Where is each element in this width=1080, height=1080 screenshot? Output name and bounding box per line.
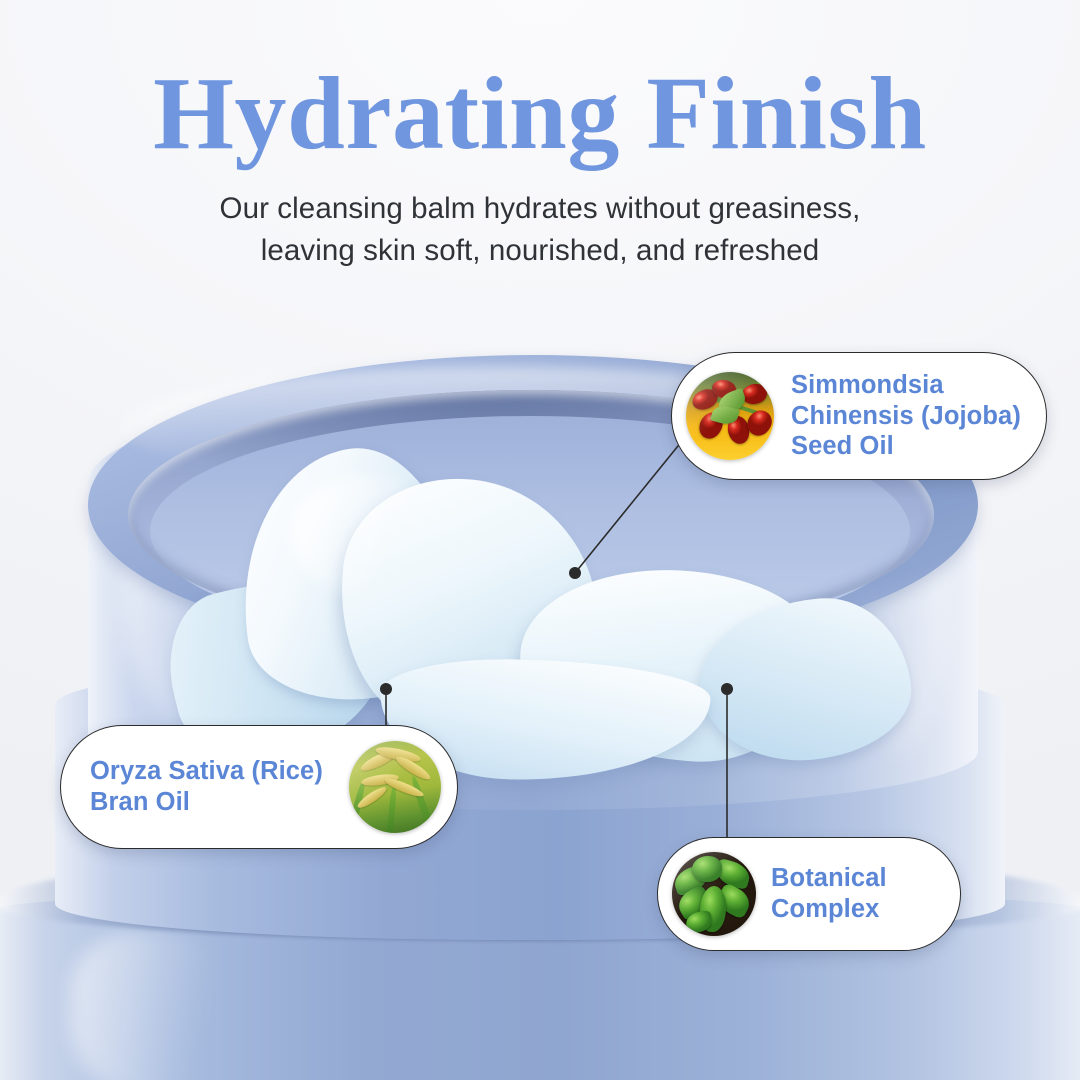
label-line-2: Bran Oil	[90, 787, 323, 818]
callout-label-rice: Oryza Sativa (Rice) Bran Oil	[90, 756, 323, 817]
label-line-2: Chinensis (Jojoba)	[791, 401, 1021, 431]
subtitle-line-2: leaving skin soft, nourished, and refres…	[0, 230, 1080, 272]
header-block: Hydrating Finish Our cleansing balm hydr…	[0, 0, 1080, 272]
subtitle-line-1: Our cleansing balm hydrates without grea…	[0, 188, 1080, 230]
label-line-2: Complex	[771, 894, 887, 925]
jojoba-berries-oil-icon	[686, 372, 774, 460]
callout-badge-rice[interactable]: Oryza Sativa (Rice) Bran Oil	[60, 725, 458, 849]
label-line-1: Simmondsia	[791, 370, 1021, 400]
marketing-infographic: Hydrating Finish Our cleansing balm hydr…	[0, 0, 1080, 1080]
callout-badge-jojoba[interactable]: Simmondsia Chinensis (Jojoba) Seed Oil	[671, 352, 1047, 480]
label-line-1: Oryza Sativa (Rice)	[90, 756, 323, 787]
label-line-3: Seed Oil	[791, 431, 1021, 461]
balm-highlight	[290, 475, 440, 595]
rice-panicle-icon	[349, 741, 441, 833]
mint-leaves-icon	[672, 852, 756, 936]
callout-label-jojoba: Simmondsia Chinensis (Jojoba) Seed Oil	[791, 370, 1021, 461]
balm-curls	[140, 450, 930, 760]
page-title: Hydrating Finish	[0, 0, 1080, 166]
callout-badge-botanical[interactable]: Botanical Complex	[657, 837, 961, 951]
page-subtitle: Our cleansing balm hydrates without grea…	[0, 166, 1080, 272]
callout-label-botanical: Botanical Complex	[771, 863, 887, 924]
label-line-1: Botanical	[771, 863, 887, 894]
